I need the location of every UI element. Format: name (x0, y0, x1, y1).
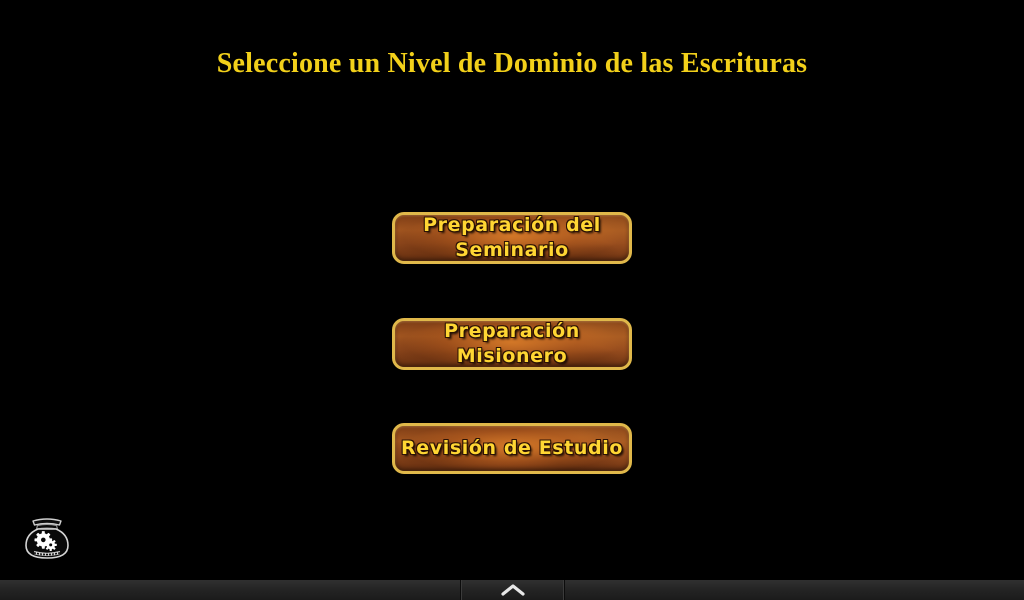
system-navigation-bar (0, 580, 1024, 600)
nav-home-button[interactable] (460, 580, 565, 600)
study-review-button-label: Revisión de Estudio (401, 436, 623, 461)
settings-pot-gears-icon (20, 510, 74, 564)
page-title: Seleccione un Nivel de Dominio de las Es… (0, 48, 1024, 80)
seminary-prep-button[interactable]: Preparación del Seminario (392, 212, 632, 264)
chevron-up-icon (500, 583, 526, 597)
missionary-prep-button-label: Preparación Misionero (444, 319, 580, 369)
seminary-prep-button-label: Preparación del Seminario (423, 213, 601, 263)
missionary-prep-button[interactable]: Preparación Misionero (392, 318, 632, 370)
study-review-button[interactable]: Revisión de Estudio (392, 423, 632, 474)
nav-recents-button[interactable] (565, 580, 1024, 600)
settings-button[interactable] (20, 510, 74, 564)
app-screen: Seleccione un Nivel de Dominio de las Es… (0, 0, 1024, 600)
nav-back-button[interactable] (0, 580, 460, 600)
level-menu: Preparación del Seminario Preparación Mi… (392, 212, 632, 474)
